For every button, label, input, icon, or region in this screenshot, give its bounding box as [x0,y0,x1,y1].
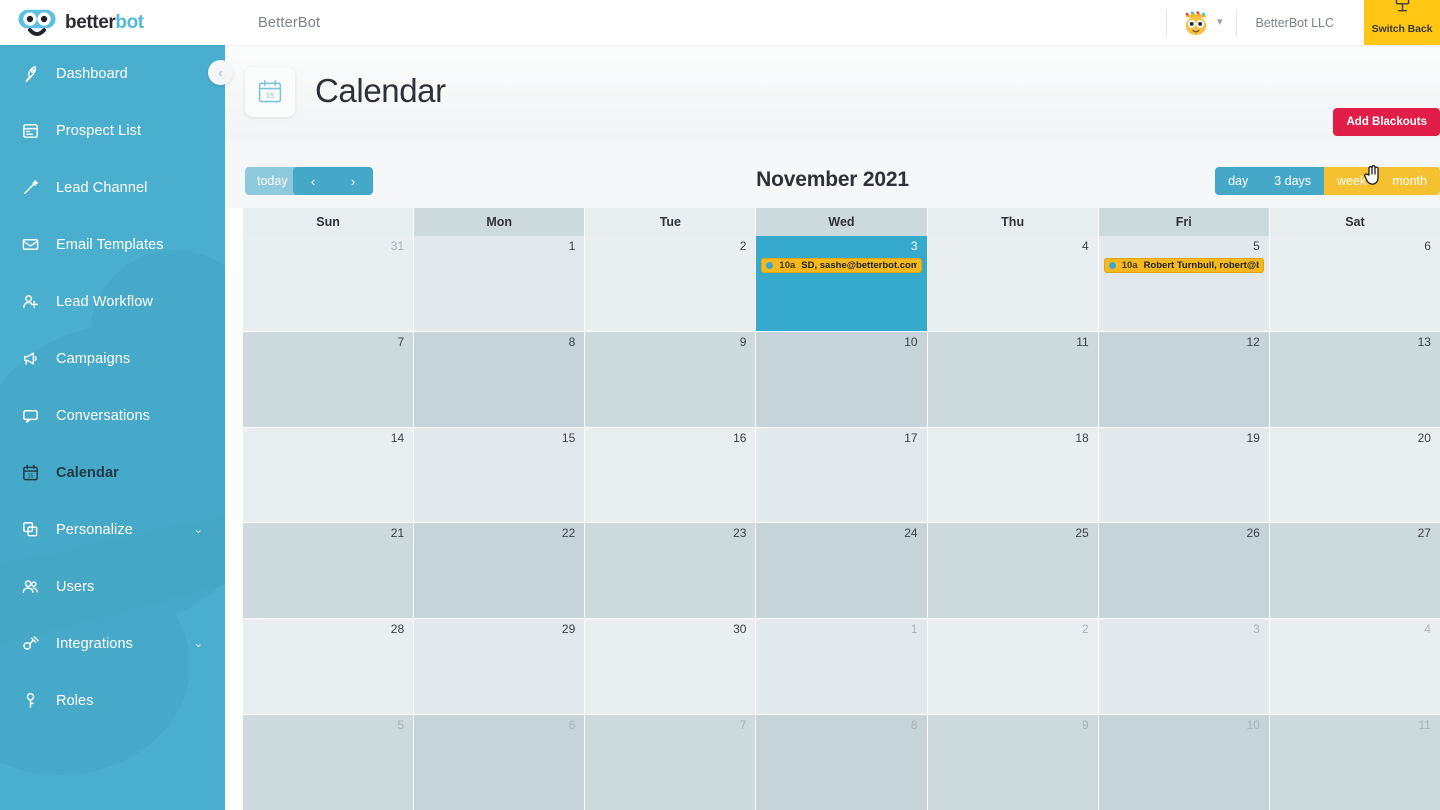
day-number: 26 [1246,526,1259,540]
chevron-down-icon[interactable]: ▾ [1217,17,1223,28]
calendar-day-cell[interactable]: 8 [414,332,585,427]
sidebar: DashboardProspect ListLead ChannelEmail … [0,45,225,810]
day-number: 11 [1076,335,1088,349]
calendar-day-cell[interactable]: 23 [585,523,756,618]
calendar-day-cell[interactable]: 510aRobert Turnbull, robert@bettert [1099,236,1270,331]
day-number: 4 [1082,239,1089,253]
calendar-15-icon: 15 [245,67,295,117]
calendar-day-cell[interactable]: 24 [756,523,927,618]
calendar-day-cell[interactable]: 11 [928,332,1099,427]
sidebar-item-label: Users [56,579,94,595]
calendar-week-row: 567891011 [243,714,1440,810]
account-menu[interactable]: ▾ [1167,9,1237,37]
calendar-week-row: 21222324252627 [243,522,1440,618]
calendar-day-cell[interactable]: 9 [585,332,756,427]
calendar-day-cell[interactable]: 17 [756,428,927,523]
calendar-grid: SunMonTueWedThuFriSat 3112310aSD, sashe@… [243,208,1440,810]
calendar-week-row: 78910111213 [243,331,1440,427]
day-number: 19 [1246,431,1259,445]
chevron-down-icon[interactable]: ⌄ [194,523,203,536]
calendar-day-cell[interactable]: 18 [928,428,1099,523]
sidebar-item-label: Calendar [56,465,119,481]
day-number: 9 [1082,718,1089,732]
topbar-app-name: BetterBot [258,15,320,31]
brand-wordmark: betterbot [65,12,144,34]
calendar-day-cell[interactable]: 4 [928,236,1099,331]
day-number: 30 [733,622,746,636]
weekday-header-tue: Tue [585,208,756,236]
day-number: 27 [1418,526,1431,540]
calendar-day-cell[interactable]: 7 [585,715,756,810]
event-status-dot [766,262,773,269]
calendar-day-cell[interactable]: 14 [243,428,414,523]
day-number: 31 [391,239,404,253]
day-number: 7 [397,335,404,349]
svg-text:15: 15 [266,91,274,100]
day-number: 6 [1424,239,1431,253]
brand-wordmark-dark: better [65,12,115,33]
brand-logo[interactable]: betterbot [0,0,225,45]
day-number: 6 [569,718,576,732]
weekday-header-sat: Sat [1270,208,1440,236]
event-status-dot [1109,262,1116,269]
calendar-day-cell[interactable]: 1 [414,236,585,331]
day-number: 8 [569,335,576,349]
layers-icon [20,520,40,540]
day-number: 25 [1075,526,1088,540]
chevron-down-icon[interactable]: ⌄ [194,637,203,650]
calendar-day-cell[interactable]: 27 [1270,523,1440,618]
calendar-weekday-header: SunMonTueWedThuFriSat [243,208,1440,236]
plug-icon [20,634,40,654]
sidebar-item-calendar[interactable]: 15Calendar [0,444,225,501]
calendar-day-cell[interactable]: 11 [1270,715,1440,810]
calendar-week-row: 3112310aSD, sashe@betterbot.com, (111)45… [243,236,1440,331]
page-header: 15 Calendar Add Blackouts [225,45,1440,140]
day-number: 24 [904,526,917,540]
calendar-day-cell[interactable]: 22 [414,523,585,618]
sidebar-item-label: Lead Workflow [56,294,153,310]
app-root: betterbot BetterBot [0,0,1440,810]
sidebar-item-conversations[interactable]: Conversations [0,387,225,444]
user-plus-icon [20,292,40,312]
day-number: 14 [391,431,404,445]
calendar-day-cell[interactable]: 13 [1270,332,1440,427]
day-number: 22 [562,526,575,540]
calendar-day-cell[interactable]: 3 [1099,619,1270,714]
sidebar-item-label: Dashboard [56,66,128,82]
calendar-day-cell[interactable]: 4 [1270,619,1440,714]
weekday-header-sun: Sun [243,208,414,236]
view-button-day[interactable]: day [1215,167,1261,195]
top-bar: betterbot BetterBot [0,0,1440,45]
calendar-day-cell[interactable]: 2 [585,236,756,331]
users-icon [20,577,40,597]
sidebar-item-email-templates[interactable]: Email Templates [0,216,225,273]
sidebar-item-personalize[interactable]: Personalize⌄ [0,501,225,558]
sidebar-item-lead-workflow[interactable]: Lead Workflow [0,273,225,330]
event-time: 10a [779,260,795,271]
day-number: 17 [904,431,917,445]
calendar-day-cell[interactable]: 15 [414,428,585,523]
day-number: 7 [740,718,747,732]
calendar-day-cell[interactable]: 8 [756,715,927,810]
brand-wordmark-blue: bot [115,12,143,33]
calendar-day-cell[interactable]: 26 [1099,523,1270,618]
calendar-day-cell[interactable]: 6 [414,715,585,810]
day-number: 3 [1253,622,1260,636]
sidebar-item-users[interactable]: Users [0,558,225,615]
calendar-day-cell[interactable]: 29 [414,619,585,714]
bot-avatar-icon [1181,9,1209,37]
calendar-day-cell[interactable]: 12 [1099,332,1270,427]
organization-name: BetterBot LLC [1237,16,1358,30]
day-number: 8 [911,718,918,732]
sidebar-item-campaigns[interactable]: Campaigns [0,330,225,387]
calendar-day-cell[interactable]: 16 [585,428,756,523]
day-number: 12 [1246,335,1259,349]
weekday-header-mon: Mon [414,208,585,236]
day-number: 20 [1418,431,1431,445]
sidebar-item-label: Lead Channel [56,180,148,196]
day-number: 1 [569,239,576,253]
day-number: 10 [1246,718,1259,732]
sidebar-item-label: Integrations [56,636,133,652]
calendar-day-cell[interactable]: 19 [1099,428,1270,523]
calendar-event[interactable]: 10aSD, sashe@betterbot.com, (111) [761,258,921,273]
day-number: 9 [740,335,747,349]
sidebar-item-label: Prospect List [56,123,141,139]
weekday-header-wed: Wed [756,208,927,236]
day-number: 10 [904,335,917,349]
calendar-day-cell[interactable]: 5 [243,715,414,810]
sidebar-item-prospect-list[interactable]: Prospect List [0,102,225,159]
day-number: 3 [911,239,918,253]
view-button-3-days[interactable]: 3 days [1261,167,1324,195]
day-number: 16 [733,431,746,445]
calendar-day-cell[interactable]: 28 [243,619,414,714]
sidebar-collapse-button[interactable]: ‹ [208,60,233,85]
magic-wand-icon [20,178,40,198]
key-icon [20,691,40,711]
calendar-weeks: 3112310aSD, sashe@betterbot.com, (111)45… [243,236,1440,810]
day-number: 28 [391,622,404,636]
calendar-day-cell[interactable]: 21 [243,523,414,618]
day-number: 4 [1424,622,1431,636]
calendar-day-cell[interactable]: 2 [928,619,1099,714]
add-blackouts-button[interactable]: Add Blackouts [1333,108,1440,136]
day-number: 11 [1419,718,1431,732]
day-number: 29 [562,622,575,636]
event-title: SD, sashe@betterbot.com, (111) [801,260,916,271]
day-number: 5 [397,718,404,732]
calendar-day-cell[interactable]: 25 [928,523,1099,618]
sidebar-item-roles[interactable]: Roles [0,672,225,729]
chat-bubble-icon [20,406,40,426]
calendar-icon: 15 [20,463,40,483]
view-button-week[interactable]: week [1324,167,1379,195]
calendar-day-cell[interactable]: 10 [1099,715,1270,810]
sidebar-item-dashboard[interactable]: Dashboard [0,45,225,102]
weekday-header-fri: Fri [1099,208,1270,236]
calendar-day-cell[interactable]: 30 [585,619,756,714]
sidebar-item-lead-channel[interactable]: Lead Channel [0,159,225,216]
calendar-day-cell[interactable]: 310aSD, sashe@betterbot.com, (111) [756,236,927,331]
calendar-week-row: 14151617181920 [243,427,1440,523]
sidebar-item-label: Personalize [56,522,133,538]
sidebar-item-label: Campaigns [56,351,130,367]
sidebar-item-label: Conversations [56,408,150,424]
chevron-left-icon: ‹ [219,66,223,80]
day-number: 2 [1082,622,1089,636]
megaphone-icon [20,349,40,369]
calendar-view-switcher: day3 daysweekmonth [1215,167,1440,195]
page-title: Calendar [315,72,446,110]
prospect-icon [20,121,40,141]
sidebar-item-label: Roles [56,693,94,709]
calendar-day-cell[interactable]: 20 [1270,428,1440,523]
rocket-icon [20,64,40,84]
day-number: 2 [740,239,747,253]
calendar-day-cell[interactable]: 6 [1270,236,1440,331]
calendar-day-cell[interactable]: 10 [756,332,927,427]
calendar-toolbar: today ‹ › November 2021 day3 daysweekmon… [225,140,1440,208]
topbar-right: ▾ BetterBot LLC Switch Back [1166,0,1440,45]
calendar-day-cell[interactable]: 9 [928,715,1099,810]
event-time: 10a [1122,260,1138,271]
betterbot-logo-icon [16,8,58,38]
day-number: 23 [733,526,746,540]
view-button-month[interactable]: month [1379,167,1440,195]
svg-text:15: 15 [27,473,33,479]
switch-icon [1393,0,1412,20]
day-number: 15 [562,431,575,445]
calendar-event[interactable]: 10aRobert Turnbull, robert@bettert [1104,258,1264,273]
switch-back-button[interactable]: Switch Back [1364,0,1440,45]
calendar-day-cell[interactable]: 1 [756,619,927,714]
day-number: 13 [1418,335,1431,349]
calendar-day-cell[interactable]: 7 [243,332,414,427]
weekday-header-thu: Thu [928,208,1099,236]
sidebar-nav: DashboardProspect ListLead ChannelEmail … [0,45,225,729]
calendar-day-cell[interactable]: 31 [243,236,414,331]
sidebar-item-integrations[interactable]: Integrations⌄ [0,615,225,672]
calendar-week-row: 2829301234 [243,618,1440,714]
switch-back-label: Switch Back [1372,23,1433,35]
day-number: 5 [1253,239,1260,253]
day-number: 18 [1075,431,1088,445]
day-number: 21 [391,526,404,540]
event-title: Robert Turnbull, robert@bettert [1144,260,1259,271]
sidebar-item-label: Email Templates [56,237,164,253]
day-number: 1 [911,622,918,636]
envelope-icon [20,235,40,255]
